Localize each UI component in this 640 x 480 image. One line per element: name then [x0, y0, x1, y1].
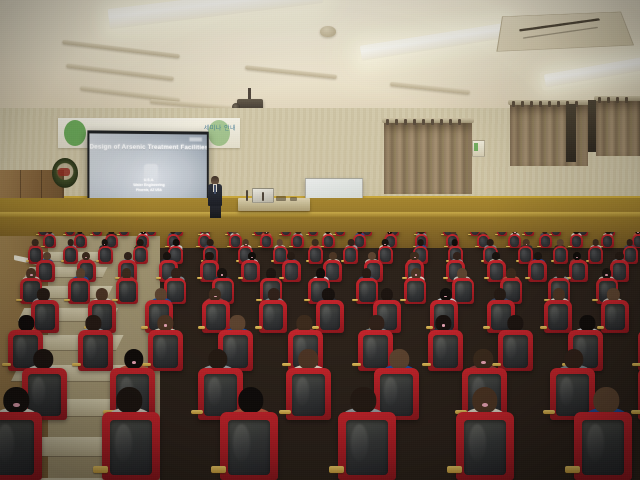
leaf-icon: [64, 120, 86, 146]
auditorium-seat[interactable]: [259, 300, 287, 333]
seat-highlight: [573, 264, 579, 276]
seat-highlight: [208, 306, 216, 324]
auditorium-seat[interactable]: [574, 412, 632, 480]
seat-armrest: [551, 260, 555, 262]
audience-head: [37, 288, 49, 301]
seat-highlight: [40, 264, 46, 276]
auditorium-seat[interactable]: [282, 260, 300, 282]
seat-highlight: [121, 283, 128, 298]
auditorium-seat[interactable]: [202, 300, 230, 333]
hair-tie: [605, 274, 607, 276]
hair-tie: [384, 244, 386, 245]
auditorium-seat[interactable]: [570, 234, 582, 248]
seat-highlight: [276, 249, 280, 259]
hair-tie: [442, 324, 446, 326]
seat-highlight: [201, 237, 205, 245]
audience-head: [564, 349, 583, 369]
lecture-hall-photo: 세미나 안내 Design of Arsenic Treatment Facil…: [0, 0, 640, 480]
curtain-ring: [395, 119, 398, 125]
audience-head: [299, 349, 318, 369]
curtain-ring: [598, 97, 601, 103]
seat-armrest: [72, 363, 81, 367]
seat-highlight: [66, 249, 70, 259]
hair-tie: [526, 244, 528, 245]
hair-tie: [245, 244, 247, 245]
audience-head: [508, 315, 523, 331]
audience-head: [556, 268, 566, 278]
seat-highlight: [204, 264, 210, 276]
seat-armrest: [289, 246, 292, 247]
audience-head: [506, 268, 516, 278]
audience-head: [266, 268, 276, 278]
seat-highlight: [366, 337, 376, 359]
seat-armrest: [36, 234, 39, 235]
curtain-ring: [512, 101, 515, 107]
hair-tie: [637, 232, 638, 233]
seat-highlight: [587, 424, 604, 461]
vent-slat: [519, 18, 600, 31]
seat-armrest: [156, 277, 161, 279]
seat-armrest: [141, 326, 148, 329]
curtain-ring: [422, 119, 425, 125]
seat-highlight: [86, 337, 96, 359]
curtain-ring: [386, 119, 389, 125]
auditorium-seat[interactable]: [116, 278, 138, 304]
curtain-rod: [594, 96, 640, 101]
seat-highlight: [614, 264, 620, 276]
presenter-tie: [214, 185, 216, 194]
auditorium-seat[interactable]: [428, 330, 463, 371]
seat-armrest: [568, 246, 571, 247]
audience-head: [494, 288, 506, 301]
seat-armrest: [352, 363, 361, 367]
hair-tie: [481, 361, 486, 364]
auditorium-seat[interactable]: [343, 246, 358, 264]
auditorium-seat[interactable]: [601, 234, 613, 248]
auditorium-seat[interactable]: [553, 246, 568, 264]
seat-highlight: [232, 237, 236, 245]
ceiling-speaker-dome: [320, 26, 336, 37]
hair-tie: [482, 403, 488, 407]
hair-tie: [13, 403, 19, 407]
seat-highlight: [46, 237, 50, 245]
seat-highlight: [604, 237, 608, 245]
curtain-ring: [521, 101, 524, 107]
auditorium-seat[interactable]: [539, 234, 551, 248]
seat-armrest: [522, 234, 525, 235]
seat-highlight: [294, 237, 298, 245]
audience-head: [86, 315, 101, 331]
audience-head: [268, 288, 280, 301]
seat-armrest: [506, 246, 509, 247]
seat-armrest: [329, 466, 344, 472]
seat-highlight: [286, 264, 292, 276]
auditorium-seat[interactable]: [338, 412, 396, 480]
audience-head: [580, 315, 595, 331]
audience-head: [362, 268, 372, 278]
curtain-ring: [449, 119, 452, 125]
auditorium-seat[interactable]: [0, 412, 42, 480]
seat-armrest: [475, 246, 478, 247]
table-items: [276, 196, 286, 201]
auditorium-seat[interactable]: [404, 278, 426, 304]
seat-armrest: [279, 410, 290, 415]
stage-edge-highlight: [0, 212, 640, 217]
seat-armrest: [96, 260, 100, 262]
seat-highlight: [457, 283, 464, 298]
seat-highlight: [313, 283, 320, 298]
audience-head: [322, 288, 334, 301]
switch-indicator-icon: [474, 143, 478, 151]
auditorium-seat[interactable]: [524, 232, 534, 236]
curtain-ring: [607, 97, 610, 103]
seat-highlight: [381, 249, 385, 259]
seat-armrest: [484, 277, 489, 279]
seat-armrest: [631, 410, 640, 415]
seat-highlight: [77, 237, 81, 245]
audience-head: [19, 315, 34, 331]
seat-highlight: [480, 237, 484, 245]
auditorium-seat[interactable]: [498, 330, 533, 371]
curtain-gap: [588, 100, 596, 152]
curtain-rod: [382, 118, 474, 123]
seat-highlight: [486, 249, 490, 259]
seat-armrest: [279, 234, 282, 235]
auditorium-seat[interactable]: [260, 234, 272, 248]
seat-armrest: [422, 363, 431, 367]
auditorium-seat[interactable]: [281, 232, 291, 236]
seat-highlight: [136, 249, 140, 259]
seat-highlight: [163, 264, 169, 276]
seat-armrest: [306, 234, 309, 235]
seat-highlight: [532, 264, 538, 276]
auditorium-seat[interactable]: [335, 232, 345, 236]
curtain-ring: [404, 119, 407, 125]
curtain-rod: [508, 100, 590, 105]
seat-armrest: [443, 277, 448, 279]
seat-highlight: [327, 264, 333, 276]
seat-armrest: [632, 363, 640, 367]
audience-head: [122, 268, 132, 278]
audience-head: [607, 288, 619, 301]
auditorium-seat[interactable]: [119, 232, 129, 236]
seat-highlight: [521, 249, 525, 259]
seat-armrest: [252, 234, 255, 235]
table-items: [290, 197, 297, 201]
seat-armrest: [198, 326, 205, 329]
seat-armrest: [468, 234, 471, 235]
seat-highlight: [241, 249, 245, 259]
seat-armrest: [26, 260, 30, 262]
auditorium-seat[interactable]: [308, 246, 323, 264]
seat-highlight: [591, 249, 595, 259]
seat-armrest: [255, 326, 262, 329]
seat-highlight: [556, 249, 560, 259]
wall-wreath-decoration: [52, 158, 78, 188]
auditorium-seat[interactable]: [98, 246, 113, 264]
seat-armrest: [227, 246, 230, 247]
seat-highlight: [542, 237, 546, 245]
audience-head: [208, 349, 227, 369]
auditorium-seat[interactable]: [92, 232, 102, 236]
curtain-ring: [625, 97, 628, 103]
seat-armrest: [481, 260, 485, 262]
audience-head: [457, 268, 467, 278]
window-curtain-mid: [510, 104, 588, 166]
presenter-torso: [208, 184, 222, 206]
seat-armrest: [258, 246, 261, 247]
presenter-table: [238, 198, 310, 211]
audience-head: [171, 268, 181, 278]
audience-head: [553, 288, 565, 301]
seat-highlight: [263, 237, 267, 245]
audience-head: [297, 315, 312, 331]
auditorium-seat[interactable]: [308, 232, 318, 236]
auditorium-seat[interactable]: [456, 412, 514, 480]
auditorium-seat[interactable]: [148, 330, 183, 371]
window-curtain: [510, 104, 588, 166]
auditorium-seat[interactable]: [78, 330, 113, 371]
seat-armrest: [117, 234, 120, 235]
seat-armrest: [93, 466, 108, 472]
seat-highlight: [108, 237, 112, 245]
seat-highlight: [245, 264, 251, 276]
auditorium-seat[interactable]: [220, 412, 278, 480]
auditorium-seat[interactable]: [544, 300, 572, 333]
hair-tie: [514, 232, 515, 233]
microphone-stand: [262, 192, 264, 201]
seat-highlight: [31, 249, 35, 259]
seating-area: [0, 232, 640, 480]
audience-head: [316, 268, 326, 278]
seat-highlight: [506, 337, 516, 359]
seat-armrest: [282, 363, 291, 367]
seat-highlight: [325, 237, 329, 245]
window-curtain: [596, 100, 640, 156]
seat-highlight: [436, 337, 446, 359]
seat-armrest: [225, 234, 228, 235]
curtain-ring: [530, 101, 533, 107]
seat-armrest: [197, 277, 202, 279]
auditorium-seat[interactable]: [322, 234, 334, 248]
seat-highlight: [169, 283, 176, 298]
auditorium-seat[interactable]: [569, 260, 587, 282]
curtain-ring: [440, 119, 443, 125]
seat-highlight: [25, 283, 32, 298]
seat-armrest: [238, 277, 243, 279]
seat-highlight: [322, 306, 330, 324]
seat-armrest: [236, 260, 240, 262]
hair-tie: [164, 324, 168, 326]
window-curtain: [384, 122, 472, 194]
auditorium-seat[interactable]: [286, 368, 330, 420]
seat-highlight: [635, 237, 639, 245]
seat-armrest: [565, 466, 580, 472]
wreath-bow: [58, 168, 70, 176]
auditorium-seat[interactable]: [497, 232, 507, 236]
audience-head: [230, 315, 245, 331]
seat-highlight: [346, 249, 350, 259]
seat-armrest: [2, 363, 11, 367]
audience-head: [33, 349, 52, 369]
microphone-stand: [246, 190, 248, 201]
seat-armrest: [63, 234, 66, 235]
seat-highlight: [265, 306, 273, 324]
seat-highlight: [469, 424, 486, 461]
seat-highlight: [356, 237, 360, 245]
hair-tie: [143, 232, 144, 233]
hair-tie: [30, 274, 32, 276]
auditorium-seat[interactable]: [241, 260, 259, 282]
seat-armrest: [516, 260, 520, 262]
seat-highlight: [409, 283, 416, 298]
audience-head: [238, 387, 263, 414]
curtain-ring: [431, 119, 434, 125]
presenter-legs: [210, 206, 221, 218]
audience-head: [369, 315, 384, 331]
seat-highlight: [16, 337, 26, 359]
audience-head: [76, 268, 86, 278]
seat-armrest: [540, 326, 547, 329]
seat-armrest: [537, 246, 540, 247]
window-curtain-left: [384, 122, 472, 194]
seat-armrest: [483, 326, 490, 329]
seat-highlight: [626, 249, 630, 259]
air-conditioning-vent: [496, 12, 634, 52]
curtain-gap: [566, 104, 576, 162]
curtain-ring: [539, 101, 542, 107]
seat-highlight: [361, 283, 368, 298]
seat-armrest: [196, 246, 199, 247]
seat-armrest: [191, 410, 202, 415]
seat-highlight: [550, 306, 558, 324]
auditorium-seat[interactable]: [588, 246, 603, 264]
audience-head: [96, 288, 108, 301]
seat-highlight: [511, 237, 515, 245]
audience-head: [389, 349, 408, 369]
audience-head: [116, 387, 141, 414]
curtain-ring: [413, 119, 416, 125]
auditorium-seat[interactable]: [63, 246, 78, 264]
seat-highlight: [311, 249, 315, 259]
audience-head: [594, 387, 619, 414]
auditorium-seat[interactable]: [68, 278, 90, 304]
seat-armrest: [447, 466, 462, 472]
seat-armrest: [271, 260, 275, 262]
auditorium-seat[interactable]: [102, 412, 160, 480]
seat-highlight: [156, 337, 166, 359]
auditorium-seat[interactable]: [528, 260, 546, 282]
seat-armrest: [543, 410, 554, 415]
seat-highlight: [101, 249, 105, 259]
seat-armrest: [441, 234, 444, 235]
seat-highlight: [493, 306, 501, 324]
audience-head: [155, 288, 167, 301]
curtain-ring: [557, 101, 560, 107]
seat-armrest: [525, 277, 530, 279]
seat-highlight: [115, 424, 132, 461]
seat-armrest: [211, 466, 226, 472]
curtain-ring: [616, 97, 619, 103]
curtain-ring: [548, 101, 551, 107]
window-curtain-right: [596, 100, 640, 156]
seat-highlight: [351, 424, 368, 461]
auditorium-seat[interactable]: [43, 234, 55, 248]
auditorium-seat[interactable]: [316, 300, 344, 333]
audience-head: [381, 288, 393, 301]
curtain-ring: [458, 119, 461, 125]
auditorium-seat[interactable]: [551, 232, 561, 236]
auditorium-seat[interactable]: [291, 234, 303, 248]
seat-highlight: [450, 264, 456, 276]
seat-highlight: [73, 283, 80, 298]
seat-highlight: [491, 264, 497, 276]
presenter-speaker: [208, 176, 222, 218]
seat-highlight: [233, 424, 250, 461]
seat-armrest: [306, 260, 310, 262]
seat-highlight: [607, 306, 615, 324]
seat-armrest: [495, 234, 498, 235]
seat-highlight: [37, 306, 45, 324]
audience-head: [351, 387, 376, 414]
auditorium-seat[interactable]: [601, 300, 629, 333]
seat-highlight: [573, 237, 577, 245]
seat-armrest: [90, 234, 93, 235]
seat-armrest: [61, 260, 65, 262]
wall-switch-box[interactable]: [472, 140, 485, 157]
